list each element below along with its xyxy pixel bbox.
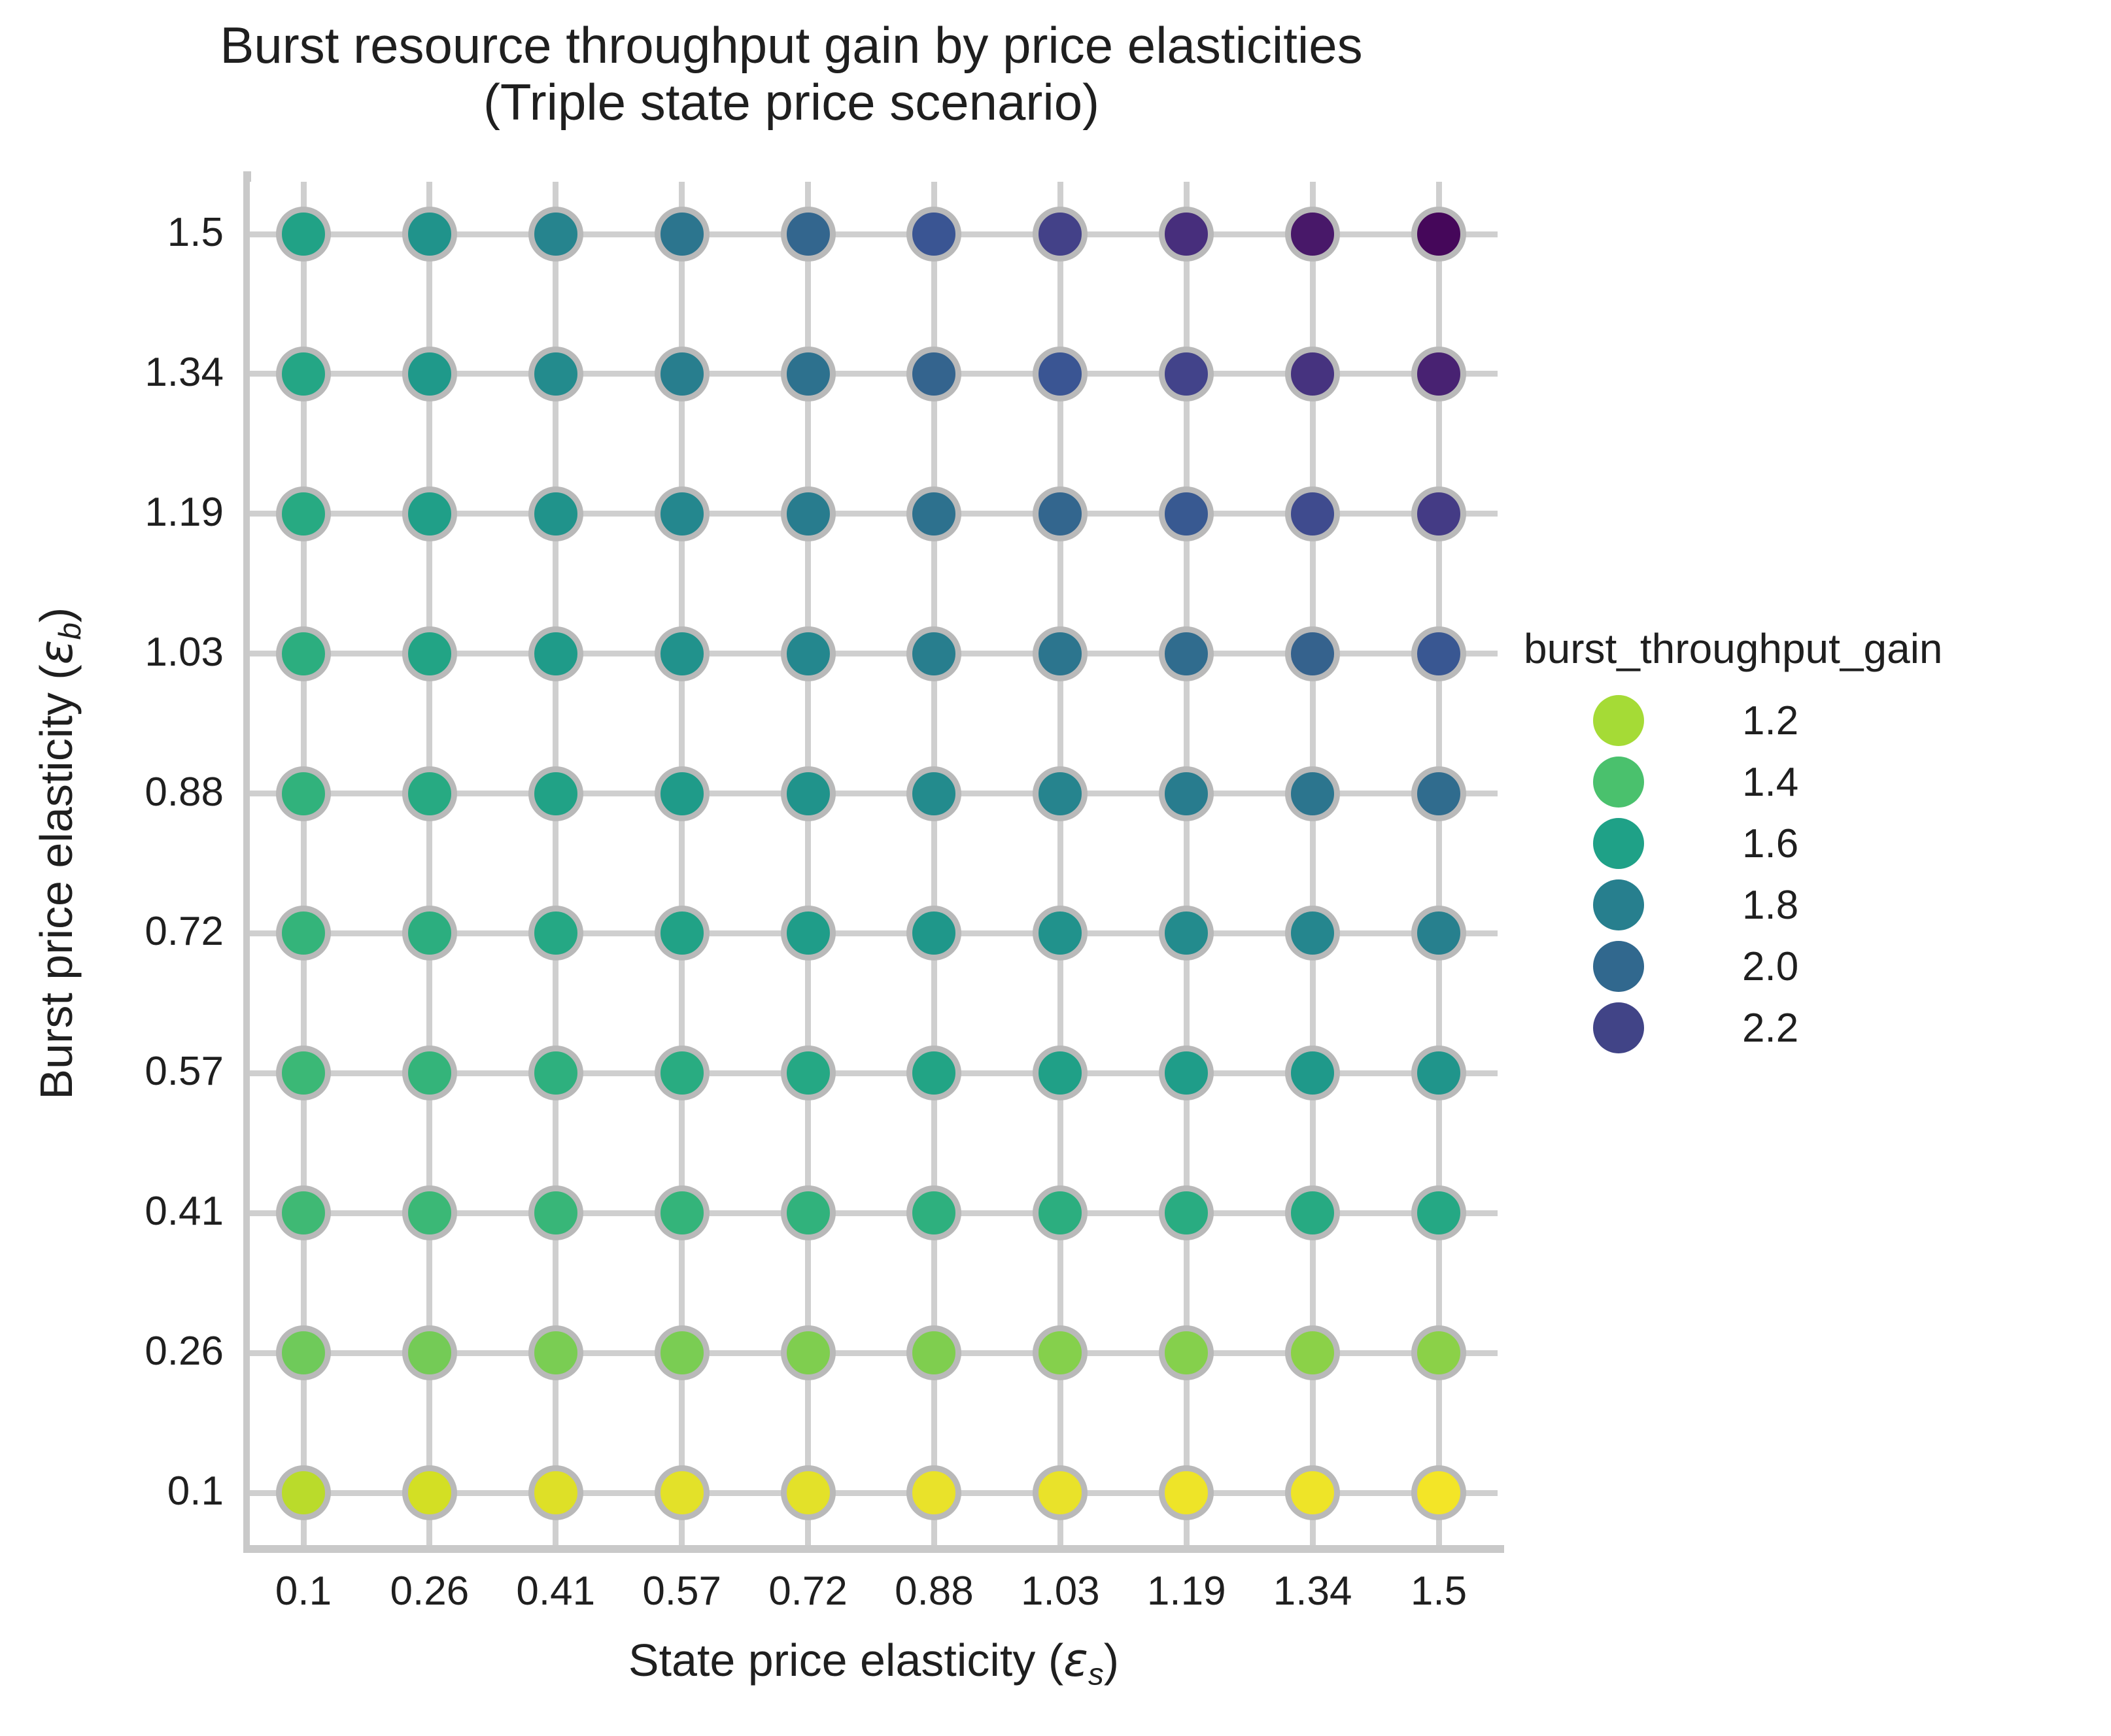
data-point — [781, 1185, 836, 1240]
legend-swatch-cell — [1524, 757, 1713, 808]
data-point — [781, 207, 836, 262]
data-point — [528, 1465, 583, 1520]
epsilon-glyph-x: ε — [1063, 1633, 1088, 1687]
legend-swatch-cell — [1524, 818, 1713, 869]
data-point — [1411, 207, 1466, 262]
data-point — [1285, 207, 1340, 262]
data-point — [528, 207, 583, 262]
data-point — [781, 766, 836, 821]
data-point — [1411, 486, 1466, 541]
y-axis-title: Burst price elasticity (εb) — [29, 167, 88, 1540]
data-point — [528, 906, 583, 961]
data-point — [1411, 1325, 1466, 1380]
y-axis-title-text: Burst price elasticity ( — [31, 664, 82, 1099]
data-point — [1411, 1185, 1466, 1240]
legend-label: 1.6 — [1742, 821, 1798, 867]
data-point — [276, 347, 331, 401]
legend-item[interactable]: 1.6 — [1524, 813, 1890, 874]
legend-item[interactable]: 1.2 — [1524, 690, 1890, 751]
data-point — [1411, 347, 1466, 401]
data-point — [1411, 906, 1466, 961]
data-point — [1159, 207, 1214, 262]
data-point — [1285, 1046, 1340, 1100]
legend-swatch-cell — [1524, 879, 1713, 930]
data-point — [906, 906, 961, 961]
data-point — [655, 1185, 710, 1240]
data-point — [402, 766, 457, 821]
data-point — [1285, 347, 1340, 401]
legend-label: 2.0 — [1742, 944, 1798, 990]
data-point — [402, 1325, 457, 1380]
data-point — [906, 626, 961, 681]
legend-swatch-cell — [1524, 941, 1713, 992]
data-point — [1033, 906, 1088, 961]
data-point — [1033, 1185, 1088, 1240]
data-point — [1033, 486, 1088, 541]
data-point — [402, 207, 457, 262]
legend-swatch — [1593, 818, 1644, 869]
data-point — [1159, 906, 1214, 961]
legend-item[interactable]: 1.4 — [1524, 751, 1890, 813]
data-point — [276, 1046, 331, 1100]
data-point — [1033, 207, 1088, 262]
data-point — [1159, 486, 1214, 541]
data-point — [1285, 486, 1340, 541]
data-point — [1159, 347, 1214, 401]
data-point — [906, 347, 961, 401]
data-point — [276, 207, 331, 262]
data-point — [655, 906, 710, 961]
legend-items: 1.21.41.61.82.02.2 — [1524, 690, 1890, 1059]
data-point — [528, 347, 583, 401]
page-title: Burst resource throughput gain by price … — [0, 17, 1583, 131]
data-point — [1285, 1185, 1340, 1240]
data-point — [781, 1046, 836, 1100]
legend-swatch — [1593, 879, 1644, 930]
data-point — [1033, 626, 1088, 681]
legend-title: burst_throughput_gain — [1524, 624, 1890, 673]
x-axis-title-text: State price elasticity ( — [628, 1635, 1063, 1686]
data-point — [402, 1185, 457, 1240]
y-axis-title-paren: ) — [31, 607, 82, 622]
data-point — [781, 486, 836, 541]
data-point — [402, 1465, 457, 1520]
data-point — [1159, 1465, 1214, 1520]
legend-swatch-cell — [1524, 695, 1713, 746]
data-point — [528, 1325, 583, 1380]
data-point — [1285, 906, 1340, 961]
x-axis-spine — [243, 1545, 1504, 1553]
data-point — [655, 486, 710, 541]
data-point — [906, 1185, 961, 1240]
data-point — [906, 207, 961, 262]
data-point — [1285, 1465, 1340, 1520]
x-axis-tick-label: 1.5 — [1354, 1568, 1524, 1614]
data-point — [276, 626, 331, 681]
data-point — [402, 347, 457, 401]
data-point — [655, 1465, 710, 1520]
y-axis-title-subscript: b — [53, 622, 88, 639]
data-point — [1285, 1325, 1340, 1380]
data-point — [906, 1465, 961, 1520]
data-point — [1033, 766, 1088, 821]
data-point — [1411, 1465, 1466, 1520]
data-point — [1411, 626, 1466, 681]
x-axis-title: State price elasticity (εs) — [250, 1633, 1498, 1692]
legend-swatch — [1593, 695, 1644, 746]
data-point — [1033, 1325, 1088, 1380]
data-point — [1033, 1465, 1088, 1520]
legend-label: 1.4 — [1742, 759, 1798, 806]
legend-swatch — [1593, 757, 1644, 808]
x-axis-title-paren: ) — [1104, 1635, 1119, 1686]
data-point — [276, 766, 331, 821]
epsilon-glyph-y: ε — [29, 640, 83, 665]
data-point — [1159, 1325, 1214, 1380]
data-point — [655, 626, 710, 681]
data-point — [1285, 626, 1340, 681]
legend-item[interactable]: 2.0 — [1524, 936, 1890, 997]
data-point — [1411, 766, 1466, 821]
data-point — [528, 486, 583, 541]
data-point — [276, 1185, 331, 1240]
data-point — [1159, 766, 1214, 821]
data-point — [655, 766, 710, 821]
data-point — [655, 207, 710, 262]
data-point — [655, 347, 710, 401]
data-point — [781, 1325, 836, 1380]
data-point — [1159, 626, 1214, 681]
data-point — [906, 1325, 961, 1380]
legend-swatch — [1593, 941, 1644, 992]
data-point — [906, 1046, 961, 1100]
data-point — [402, 626, 457, 681]
data-point — [781, 347, 836, 401]
data-point — [1285, 766, 1340, 821]
x-axis-title-subscript: s — [1088, 1657, 1104, 1692]
data-point — [906, 766, 961, 821]
data-point — [906, 486, 961, 541]
data-point — [276, 1325, 331, 1380]
data-point — [276, 1465, 331, 1520]
data-point — [528, 766, 583, 821]
data-point — [528, 626, 583, 681]
data-point — [1159, 1185, 1214, 1240]
data-point — [528, 1185, 583, 1240]
data-point — [655, 1325, 710, 1380]
data-point — [1033, 347, 1088, 401]
data-point — [1411, 1046, 1466, 1100]
legend-swatch-cell — [1524, 1002, 1713, 1053]
data-point — [402, 1046, 457, 1100]
legend-item[interactable]: 1.8 — [1524, 874, 1890, 936]
data-point — [655, 1046, 710, 1100]
legend-label: 2.2 — [1742, 1005, 1798, 1051]
legend: burst_throughput_gain 1.21.41.61.82.02.2 — [1524, 624, 1890, 1059]
data-point — [781, 626, 836, 681]
data-point — [781, 906, 836, 961]
legend-item[interactable]: 2.2 — [1524, 997, 1890, 1059]
data-point — [402, 486, 457, 541]
data-point — [781, 1465, 836, 1520]
data-point — [276, 486, 331, 541]
legend-label: 1.8 — [1742, 882, 1798, 928]
data-point — [276, 906, 331, 961]
data-point — [402, 906, 457, 961]
legend-label: 1.2 — [1742, 698, 1798, 744]
data-point — [1159, 1046, 1214, 1100]
data-point — [1033, 1046, 1088, 1100]
scatter-panel — [250, 182, 1498, 1545]
legend-swatch — [1593, 1002, 1644, 1053]
data-point — [528, 1046, 583, 1100]
